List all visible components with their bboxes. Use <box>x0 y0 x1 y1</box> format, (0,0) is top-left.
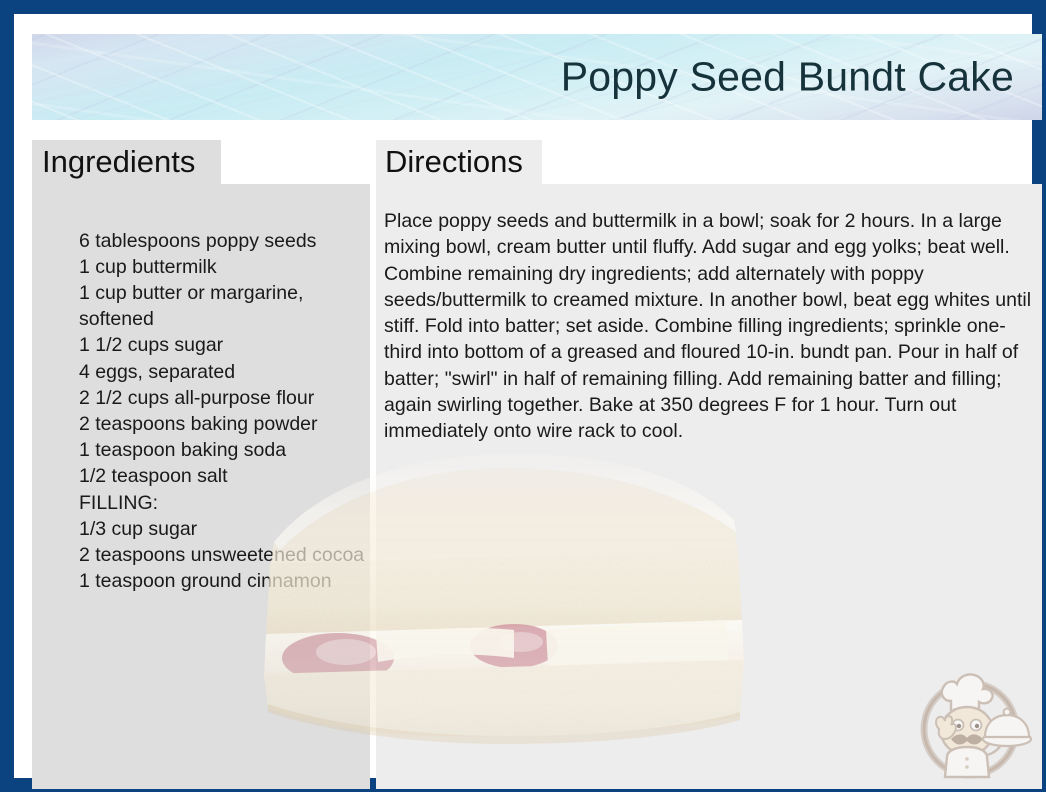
recipe-card: Poppy Seed Bundt Cake Ingredients 6 tabl… <box>0 0 1046 792</box>
ingredient-item: 2 1/2 cups all-purpose flour <box>79 385 366 411</box>
ingredient-item: 1 teaspoon ground cinnamon <box>79 568 366 594</box>
chef-mascot-logo <box>907 659 1033 785</box>
ingredient-item: 1 cup butter or margarine, softened <box>79 280 366 332</box>
ingredient-item: 2 teaspoons baking powder <box>79 411 366 437</box>
ingredient-item: 6 tablespoons poppy seeds <box>79 228 366 254</box>
ingredient-item: FILLING: <box>79 490 366 516</box>
ingredients-panel: 6 tablespoons poppy seeds1 cup buttermil… <box>32 184 370 789</box>
tab-directions-label: Directions <box>385 144 523 180</box>
tab-directions[interactable]: Directions <box>376 140 542 184</box>
tab-ingredients[interactable]: Ingredients <box>32 140 221 184</box>
card-inner-surface: Poppy Seed Bundt Cake Ingredients 6 tabl… <box>14 14 1032 778</box>
header-banner: Poppy Seed Bundt Cake <box>32 34 1042 120</box>
page-title: Poppy Seed Bundt Cake <box>561 54 1014 101</box>
directions-text: Place poppy seeds and buttermilk in a bo… <box>384 208 1034 445</box>
ingredient-item: 1 cup buttermilk <box>79 254 366 280</box>
ingredient-item: 1/2 teaspoon salt <box>79 463 366 489</box>
ingredient-item: 4 eggs, separated <box>79 359 366 385</box>
ingredient-item: 1 1/2 cups sugar <box>79 332 366 358</box>
ingredient-item: 1 teaspoon baking soda <box>79 437 366 463</box>
ingredient-item: 1/3 cup sugar <box>79 516 366 542</box>
ingredient-item: 2 teaspoons unsweetened cocoa <box>79 542 366 568</box>
tab-ingredients-label: Ingredients <box>42 144 195 180</box>
ingredients-list: 6 tablespoons poppy seeds1 cup buttermil… <box>39 228 366 595</box>
